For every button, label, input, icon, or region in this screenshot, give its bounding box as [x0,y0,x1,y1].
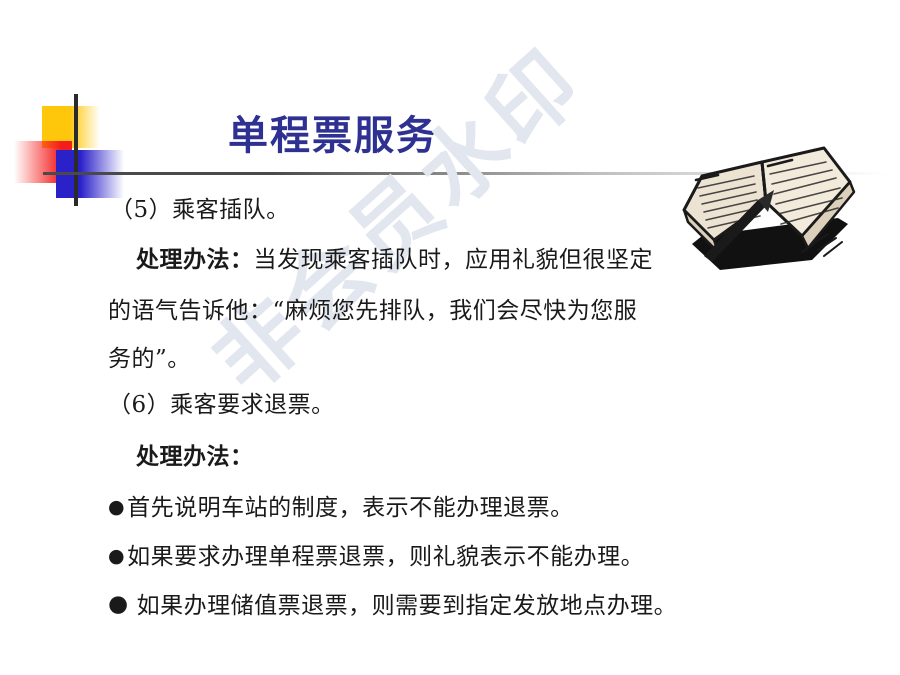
bullet-item-3-text: 如果办理储值票退票，则需要到指定发放地点办理。 [137,593,678,619]
item5-method-text1: 当发现乘客插队时，应用礼貌但很坚定 [254,247,654,273]
item6-method-label-text: 处理办法： [136,443,254,470]
bullet-item-2: ●如果要求办理单程票退票，则礼貌表示不能办理。 [108,537,644,571]
bullet-dot-icon: ● [108,496,125,518]
bullet-item-1: ●首先说明车站的制度，表示不能办理退票。 [108,488,574,522]
bullet-dot-icon: ● [108,545,125,567]
item5-heading: （5）乘客插队。 [110,190,290,224]
item5-method-line2: 的语气告诉他：“麻烦您先排队，我们会尽快为您服 [108,291,637,325]
bullet-item-2-text: 如果要求办理单程票退票，则礼貌表示不能办理。 [127,544,644,570]
item5-method-label: 处理办法： [136,246,254,273]
slide-body: （5）乘客插队。 处理办法：当发现乘客插队时，应用礼貌但很坚定 的语气告诉他：“… [0,0,900,675]
item5-method-line1: 处理办法：当发现乘客插队时，应用礼貌但很坚定 [136,240,653,274]
bullet-item-3: ●如果办理储值票退票，则需要到指定发放地点办理。 [108,586,677,620]
item5-method-line3: 务的”。 [108,339,191,373]
slide-canvas: 单程票服务 非会员水印 [0,0,900,675]
bullet-item-1-text: 首先说明车站的制度，表示不能办理退票。 [127,495,574,521]
item6-method-label: 处理办法： [136,437,254,471]
item6-heading: （6）乘客要求退票。 [108,385,335,419]
bullet-dot-icon: ● [108,591,129,617]
